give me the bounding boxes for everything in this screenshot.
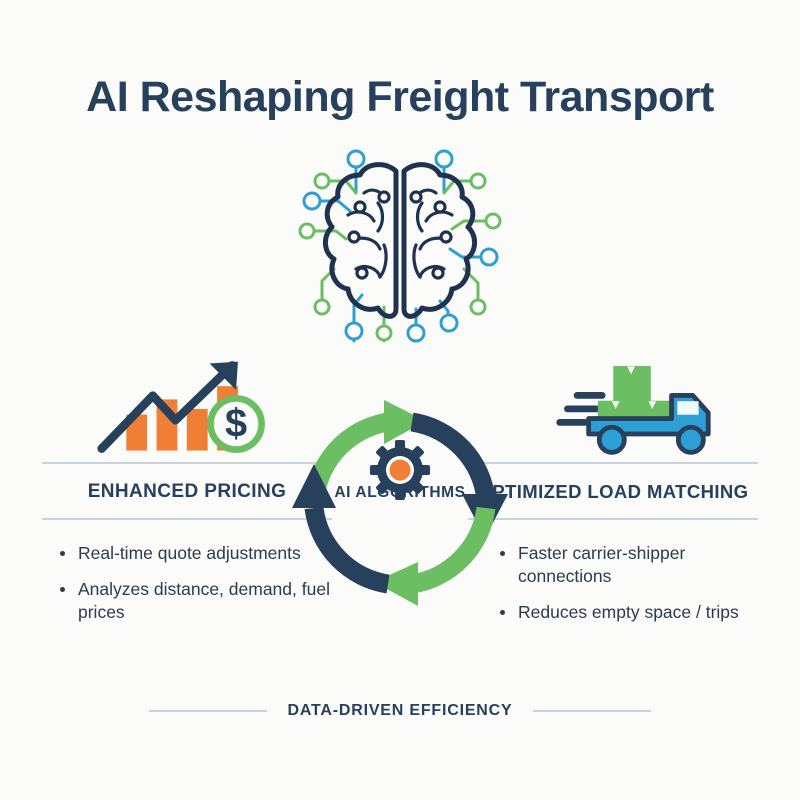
- footer-line-left: [149, 710, 267, 712]
- column-heading-enhanced-pricing: ENHANCED PRICING: [42, 464, 332, 518]
- bullet-list-optimized-load-matching: Faster carrier-shipper connections Reduc…: [468, 520, 758, 624]
- bullet-list-enhanced-pricing: Real-time quote adjustments Analyzes dis…: [42, 520, 332, 624]
- page-title: AI Reshaping Freight Transport: [0, 74, 800, 121]
- list-item: Analyzes distance, demand, fuel prices: [50, 578, 332, 624]
- cycle-label: AI ALGORITHMS: [292, 484, 508, 502]
- footer-text: DATA-DRIVEN EFFICIENCY: [287, 702, 512, 720]
- ai-algorithms-cycle: AI ALGORITHMS: [292, 388, 508, 614]
- arrow-bottom-right: [374, 508, 486, 606]
- infographic-canvas: AI Reshaping Freight Transport: [0, 0, 800, 800]
- growth-chart-dollar-icon: $: [42, 352, 332, 462]
- column-optimized-load-matching: OPTIMIZED LOAD MATCHING Faster carrier-s…: [468, 352, 758, 637]
- list-item: Real-time quote adjustments: [50, 542, 332, 565]
- ai-brain-circuit-icon: [292, 145, 508, 345]
- delivery-truck-boxes-icon: [468, 352, 758, 462]
- column-enhanced-pricing: $ ENHANCED PRICING Real-time quote adjus…: [42, 352, 332, 637]
- list-item: Reduces empty space / trips: [490, 601, 758, 624]
- list-item: Faster carrier-shipper connections: [490, 542, 758, 588]
- footer-line-right: [533, 710, 651, 712]
- footer: DATA-DRIVEN EFFICIENCY: [0, 702, 800, 720]
- svg-text:$: $: [225, 401, 247, 445]
- column-heading-optimized-load-matching: OPTIMIZED LOAD MATCHING: [468, 464, 758, 518]
